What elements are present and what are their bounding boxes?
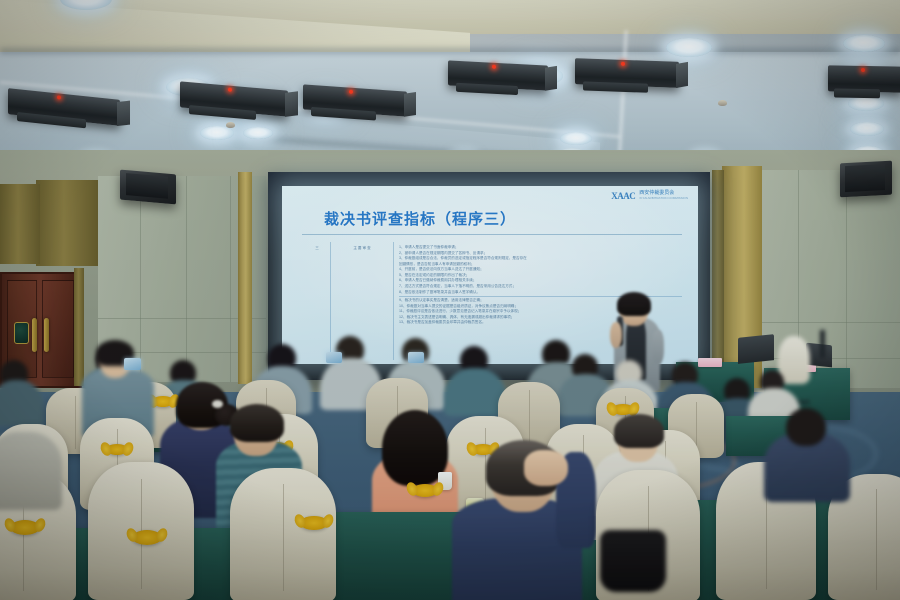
slide-logo: XAAC 西安仲裁委员会 XI'AN ARBITRATION COMMISSIO… [611, 191, 688, 202]
logo-name-cn: 西安仲裁委员会 [639, 190, 674, 196]
audience-body [444, 368, 506, 416]
ceiling-downlight [666, 38, 712, 57]
ceiling-projector [575, 58, 679, 88]
wall-trim-column [0, 184, 40, 264]
hand [524, 450, 568, 486]
ceiling-downlight [243, 127, 273, 139]
ceiling-downlight [850, 122, 884, 136]
conference-hall-photo: XAAC 西安仲裁委员会 XI'AN ARBITRATION COMMISSIO… [0, 0, 900, 600]
handbag [600, 530, 666, 592]
hair-clip-icon [212, 400, 223, 408]
door-handle[interactable] [44, 318, 49, 352]
chair-bow [300, 516, 328, 530]
wall-trim-column [36, 180, 98, 266]
smoke-detector-icon [226, 122, 235, 128]
door-handle[interactable] [32, 318, 37, 352]
ceiling-projector [448, 60, 548, 90]
mobile-phone[interactable] [326, 352, 342, 363]
attendee-left-edge [0, 432, 62, 510]
mobile-phone[interactable] [408, 352, 424, 363]
ceiling-downlight [200, 126, 234, 140]
chair-bow [10, 520, 40, 535]
wall-speaker-left [120, 170, 176, 205]
slide-title-rule [302, 234, 682, 235]
chair-bow [132, 530, 162, 545]
wall-trim-column [238, 172, 252, 384]
wall-speaker-right [840, 161, 892, 198]
chair-bow [412, 484, 438, 497]
ceiling-downlight [843, 35, 885, 52]
table-placard [698, 358, 722, 367]
presenter-glasses-icon [622, 305, 644, 310]
ceiling-downlight [848, 96, 884, 111]
audience-head [786, 408, 826, 446]
chair-bow [152, 396, 174, 407]
slide-table-col1: 三 [304, 242, 330, 360]
mobile-phone[interactable] [124, 358, 141, 370]
laptop[interactable] [738, 334, 774, 364]
logo-name-sub: XI'AN ARBITRATION COMMISSION [639, 196, 688, 200]
ceiling-downlight [560, 132, 592, 145]
logo-mark: XAAC [611, 191, 635, 201]
chair-bow [106, 444, 128, 455]
door-frame-left [74, 268, 84, 386]
equipment-stand [820, 330, 825, 358]
wall-trim-column [712, 170, 724, 388]
chair-bow [612, 404, 634, 415]
banquet-chair [230, 468, 336, 600]
door-lock-icon [14, 322, 29, 344]
slide-title: 裁决书评查指标（程序三） [324, 208, 516, 229]
presenter-hair [617, 292, 651, 316]
ceiling-projector [828, 65, 900, 92]
smoke-detector-icon [718, 100, 727, 106]
